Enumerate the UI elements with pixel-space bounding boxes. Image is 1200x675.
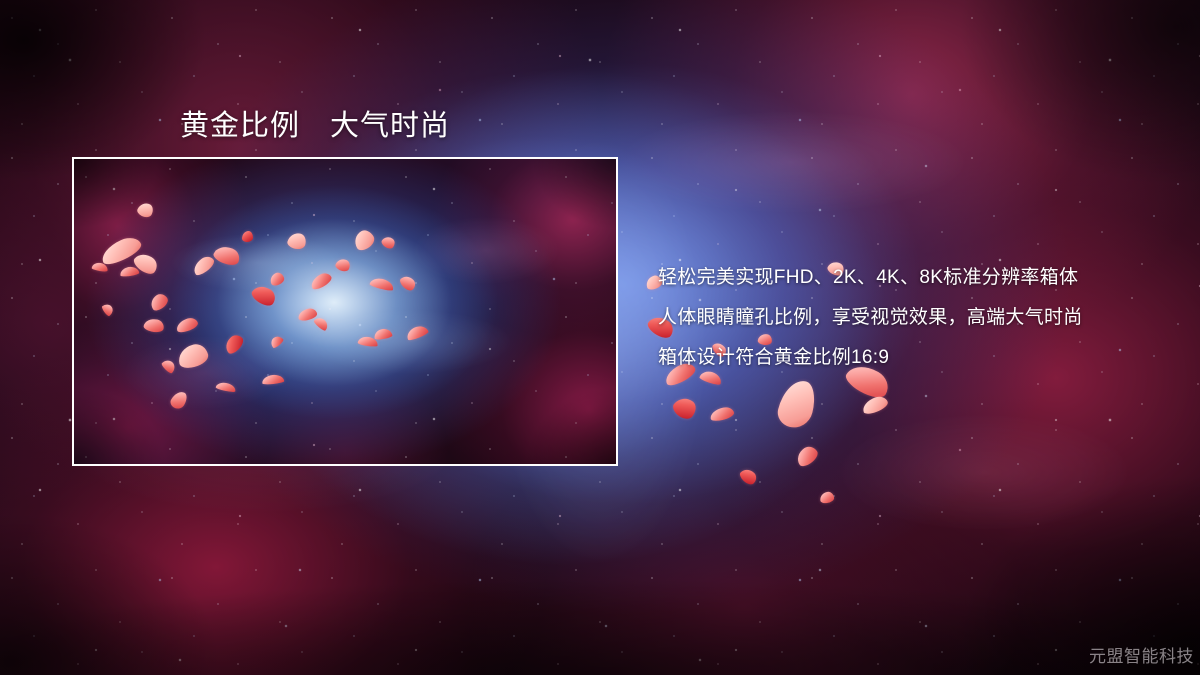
inset-vignette: [74, 159, 616, 464]
watermark: 元盟智能科技: [1089, 642, 1194, 667]
body-copy-block: 轻松完美实现FHD、2K、4K、8K标准分辨率箱体 人体眼睛瞳孔比例，享受视觉效…: [658, 258, 1178, 378]
presentation-slide: 黄金比例 大气时尚 轻松完美实现FHD、2K、4K、8K标准分辨率箱体 人体眼睛…: [0, 0, 1200, 675]
body-line: 轻松完美实现FHD、2K、4K、8K标准分辨率箱体: [658, 258, 1178, 298]
inset-preview-frame: [72, 157, 618, 466]
page-title: 黄金比例 大气时尚: [180, 102, 450, 144]
petal: [242, 231, 253, 242]
body-line: 箱体设计符合黄金比例16:9: [658, 338, 1178, 378]
body-line: 人体眼睛瞳孔比例，享受视觉效果，高端大气时尚: [658, 298, 1178, 338]
